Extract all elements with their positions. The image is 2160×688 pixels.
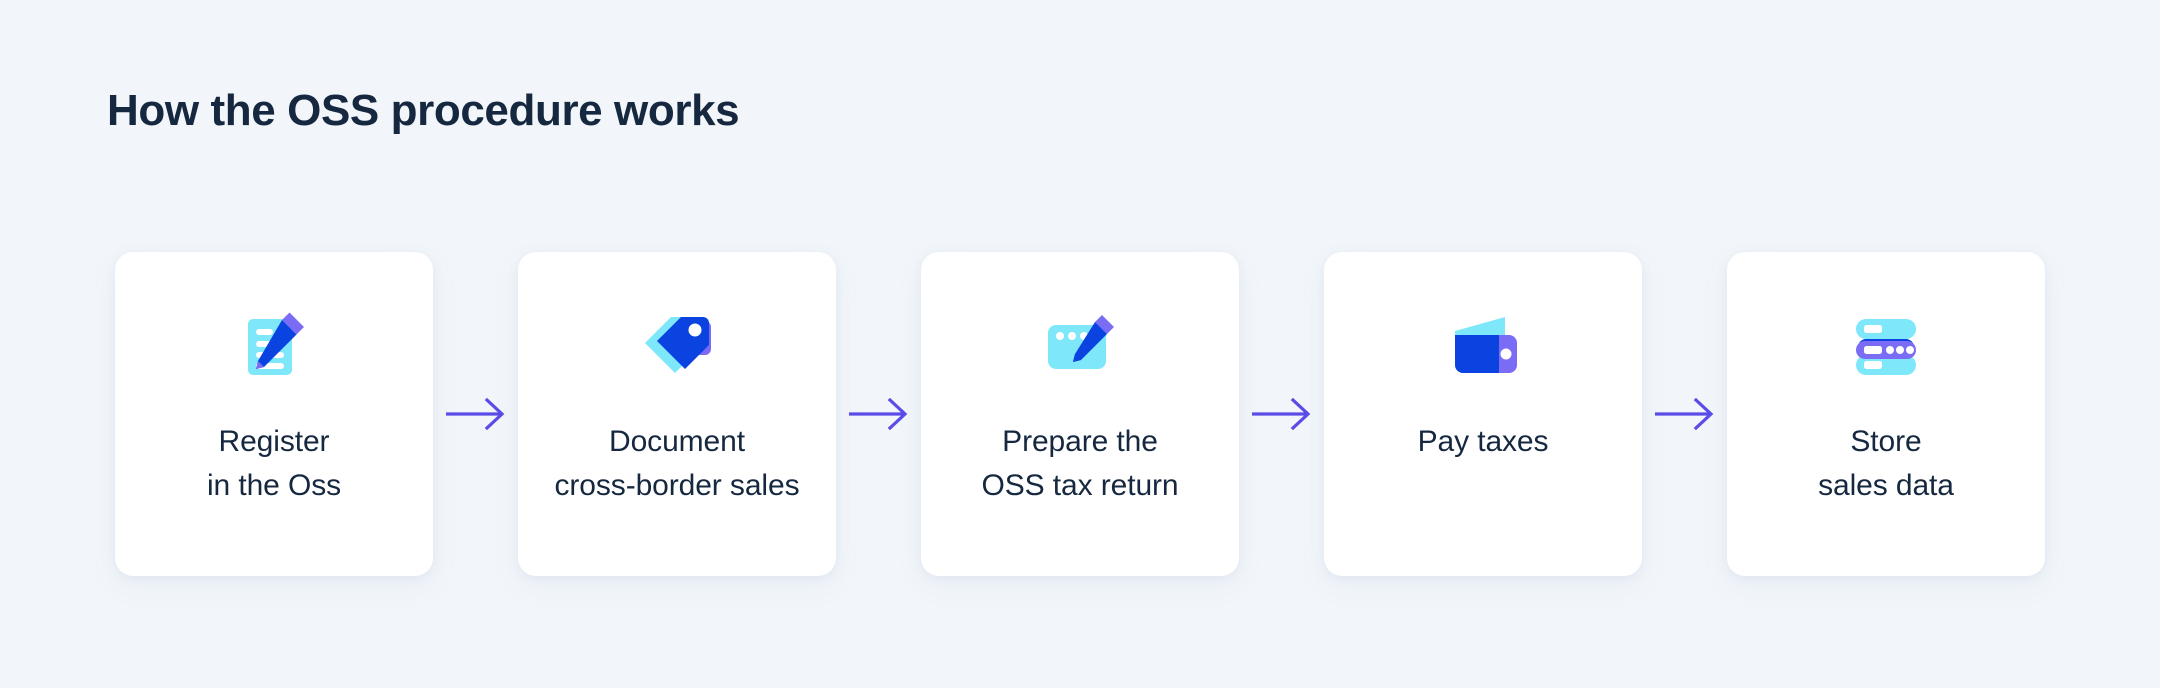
wallet-icon: [1440, 304, 1526, 390]
page-title: How the OSS procedure works: [107, 86, 739, 136]
arrow-right-icon: [1644, 394, 1726, 434]
document-pen-icon: [231, 304, 317, 390]
server-stack-icon: [1843, 304, 1929, 390]
step-label: Document cross-border sales: [555, 420, 800, 508]
step-label: Store sales data: [1818, 420, 1954, 508]
arrow-right-icon: [1241, 394, 1323, 434]
step-card-prepare-return[interactable]: Prepare the OSS tax return: [921, 252, 1239, 576]
step-card-pay-taxes[interactable]: Pay taxes: [1324, 252, 1642, 576]
step-label: Pay taxes: [1418, 420, 1549, 464]
window-pencil-icon: [1037, 304, 1123, 390]
process-flow: Register in the Oss Document cross-borde…: [115, 252, 2045, 576]
step-card-document-sales[interactable]: Document cross-border sales: [518, 252, 836, 576]
step-label: Register in the Oss: [207, 420, 341, 508]
oss-procedure-infographic: How the OSS procedure works Register in …: [0, 0, 2160, 688]
arrow-right-icon: [435, 394, 517, 434]
price-tags-icon: [634, 304, 720, 390]
step-card-register[interactable]: Register in the Oss: [115, 252, 433, 576]
step-card-store-data[interactable]: Store sales data: [1727, 252, 2045, 576]
arrow-right-icon: [838, 394, 920, 434]
step-label: Prepare the OSS tax return: [981, 420, 1178, 508]
